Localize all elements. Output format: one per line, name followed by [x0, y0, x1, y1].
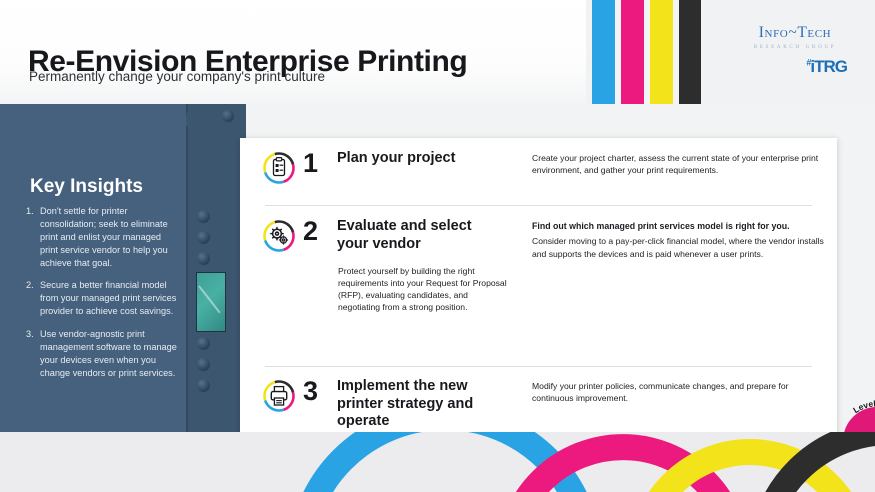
step-number: 2	[303, 218, 329, 245]
step-number: 1	[303, 150, 329, 177]
list-item-number: 3.	[26, 328, 40, 380]
printer-screw-icon	[197, 252, 210, 265]
step-row-2: 2 Evaluate and select your vendor Protec…	[262, 218, 822, 313]
list-item-text: Secure a better financial model from you…	[40, 279, 181, 318]
printer-screw-icon	[197, 210, 210, 223]
step-number: 3	[303, 378, 329, 405]
list-item: 1. Don't settle for printer consolidatio…	[26, 205, 181, 270]
divider	[265, 205, 812, 206]
step-title: Implement the new printer strategy and o…	[337, 378, 505, 431]
printer-control-screen	[196, 272, 226, 332]
page-subtitle: Permanently change your company's print …	[29, 69, 325, 84]
logo-itrg-badge: #iTRG	[735, 57, 855, 77]
step-description-text: Create your project charter, assess the …	[532, 153, 818, 175]
cmyk-bar-cyan	[592, 0, 615, 104]
infographic-slide: Re-Envision Enterprise Printing Permanen…	[0, 0, 875, 492]
list-item: 3. Use vendor-agnostic print management …	[26, 328, 181, 380]
brand-logo: Info~Tech RESEARCH GROUP #iTRG	[735, 24, 855, 86]
step-subtext: Protect yourself by building the right r…	[338, 265, 510, 313]
printer-icon	[262, 379, 296, 418]
list-item: 2. Secure a better financial model from …	[26, 279, 181, 318]
step-description: Modify your printer policies, communicat…	[532, 380, 832, 404]
logo-wordmark: Info~Tech	[735, 24, 855, 42]
cmyk-bar-black	[679, 0, 701, 104]
key-insights-list: 1. Don't settle for printer consolidatio…	[26, 205, 181, 389]
clipboard-icon	[262, 151, 296, 190]
step-description-heading: Find out which managed print services mo…	[532, 220, 832, 232]
step-description: Create your project charter, assess the …	[532, 152, 832, 176]
step-title: Plan your project	[337, 150, 505, 168]
list-item-text: Don't settle for printer consolidation; …	[40, 205, 181, 270]
step-description-text: Modify your printer policies, communicat…	[532, 381, 789, 403]
step-row-1: 1 Plan your project Create your project …	[262, 150, 822, 190]
list-item-text: Use vendor-agnostic print management sof…	[40, 328, 181, 380]
printer-screw-icon	[197, 358, 210, 371]
list-item-number: 2.	[26, 279, 40, 318]
printer-screw-icon	[197, 379, 210, 392]
step-description-text: Consider moving to a pay-per-click finan…	[532, 236, 824, 258]
list-item-number: 1.	[26, 205, 40, 270]
cmyk-bar-yellow	[650, 0, 673, 104]
printer-screw-icon	[197, 337, 210, 350]
gears-icon	[262, 219, 296, 258]
cmyk-bar-magenta	[621, 0, 644, 104]
key-insights-heading: Key Insights	[30, 176, 143, 198]
printer-screw-icon	[222, 110, 234, 122]
step-description: Find out which managed print services mo…	[532, 220, 832, 260]
logo-itrg-text: iTRG	[810, 57, 847, 76]
content-card: 1 Plan your project Create your project …	[240, 138, 837, 453]
printer-screw-icon	[197, 231, 210, 244]
logo-tagline: RESEARCH GROUP	[735, 44, 855, 50]
cmyk-arcs-bottom	[0, 432, 875, 492]
step-row-3: 3 Implement the new printer strategy and…	[262, 378, 822, 431]
printer-top-corner	[186, 104, 244, 126]
step-title: Evaluate and select your vendor	[337, 218, 505, 253]
divider	[265, 366, 812, 367]
